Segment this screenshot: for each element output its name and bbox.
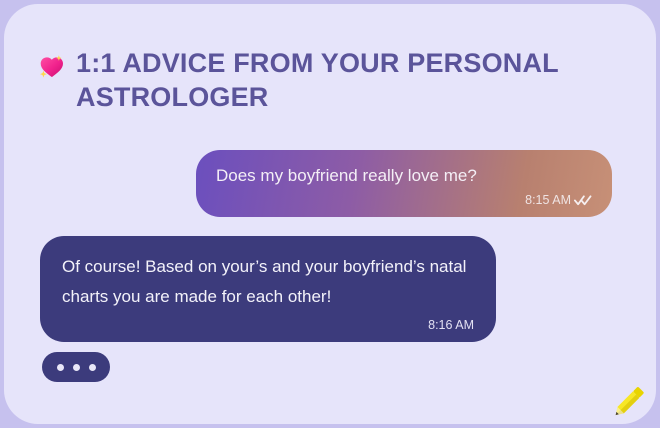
double-check-icon: [574, 194, 592, 206]
message-timestamp: 8:16 AM: [428, 318, 474, 332]
chat-bubble-incoming[interactable]: Of course! Based on your’s and your boyf…: [40, 236, 496, 342]
message-text: Does my boyfriend really love me?: [216, 164, 592, 187]
message-text: Of course! Based on your’s and your boyf…: [62, 252, 474, 312]
screenshot-root: 1:1 ADVICE FROM YOUR PERSONAL ASTROLOGER…: [0, 0, 660, 428]
typing-indicator: [42, 352, 110, 382]
page-title: 1:1 ADVICE FROM YOUR PERSONAL ASTROLOGER: [76, 44, 559, 114]
typing-dot: [73, 364, 80, 371]
typing-dot: [89, 364, 96, 371]
pencil-icon: [608, 382, 648, 422]
message-timestamp: 8:15 AM: [525, 193, 571, 207]
message-meta: 8:15 AM: [216, 193, 592, 207]
chat-bubble-outgoing[interactable]: Does my boyfriend really love me? 8:15 A…: [196, 150, 612, 217]
sparkling-heart-icon: [36, 50, 66, 80]
chat-thread: Does my boyfriend really love me? 8:15 A…: [4, 142, 656, 422]
card-header: 1:1 ADVICE FROM YOUR PERSONAL ASTROLOGER: [36, 44, 596, 114]
message-meta: 8:16 AM: [62, 318, 474, 332]
advice-card: 1:1 ADVICE FROM YOUR PERSONAL ASTROLOGER…: [4, 4, 656, 424]
typing-dot: [57, 364, 64, 371]
